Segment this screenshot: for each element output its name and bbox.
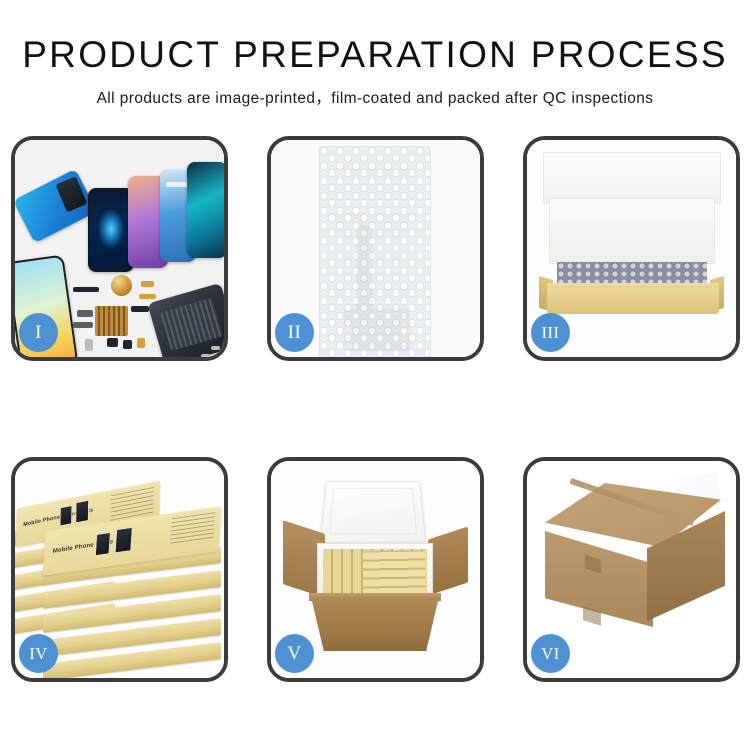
bubble-texture: [320, 147, 430, 357]
small-part: [77, 310, 93, 317]
infographic-page: PRODUCT PREPARATION PROCESS All products…: [0, 0, 750, 750]
carton-flap-right: [428, 527, 468, 596]
process-step-panel-4: Mobile Phone Spare Parts Mobile Phone Sp…: [11, 457, 228, 682]
bubble-wrap-bag: [319, 146, 431, 357]
small-part: [123, 340, 132, 349]
blue-screen-adhesive: [15, 169, 97, 244]
gold-boxes-packed: [363, 550, 426, 595]
process-step-panel-2: II: [267, 136, 484, 361]
step-badge-2: II: [275, 313, 314, 352]
small-part: [107, 338, 118, 347]
small-part: [73, 287, 99, 292]
box-artwork-phone: [59, 505, 72, 527]
styrofoam-lid: [320, 481, 427, 542]
small-part: [201, 354, 210, 357]
step-badge-4: IV: [19, 634, 58, 673]
carton-body: [311, 597, 439, 651]
step-badge-3: III: [531, 313, 570, 352]
box-front-panel: [547, 288, 719, 314]
small-part: [137, 338, 145, 348]
process-step-panel-5: V: [267, 457, 484, 682]
page-title: PRODUCT PREPARATION PROCESS: [0, 36, 750, 75]
teal-wave-phone: [187, 162, 224, 258]
box-spec-lines: [170, 512, 216, 547]
header: PRODUCT PREPARATION PROCESS All products…: [0, 0, 750, 108]
process-step-panel-1: I: [11, 136, 228, 361]
page-subtitle: All products are image-printed，film-coat…: [0, 86, 750, 108]
small-part: [131, 306, 149, 312]
small-part: [141, 281, 154, 287]
small-part: [211, 346, 220, 350]
process-step-grid: I II: [11, 136, 739, 682]
step-badge-5: V: [275, 634, 314, 673]
box-artwork-phone: [114, 527, 133, 554]
small-part: [73, 322, 93, 328]
gold-coil-part: [111, 275, 132, 296]
step-badge-6: VI: [531, 634, 570, 673]
small-part: [85, 339, 93, 351]
connector-chip-grid: [95, 306, 128, 336]
process-step-panel-6: VI: [523, 457, 740, 682]
box-artwork-phone: [95, 532, 111, 557]
process-step-panel-3: III: [523, 136, 740, 361]
foam-sheet: [549, 198, 715, 264]
box-artwork-phone: [75, 499, 89, 523]
step-badge-1: I: [19, 313, 58, 352]
box-lid: [543, 152, 721, 204]
small-part: [139, 294, 156, 299]
